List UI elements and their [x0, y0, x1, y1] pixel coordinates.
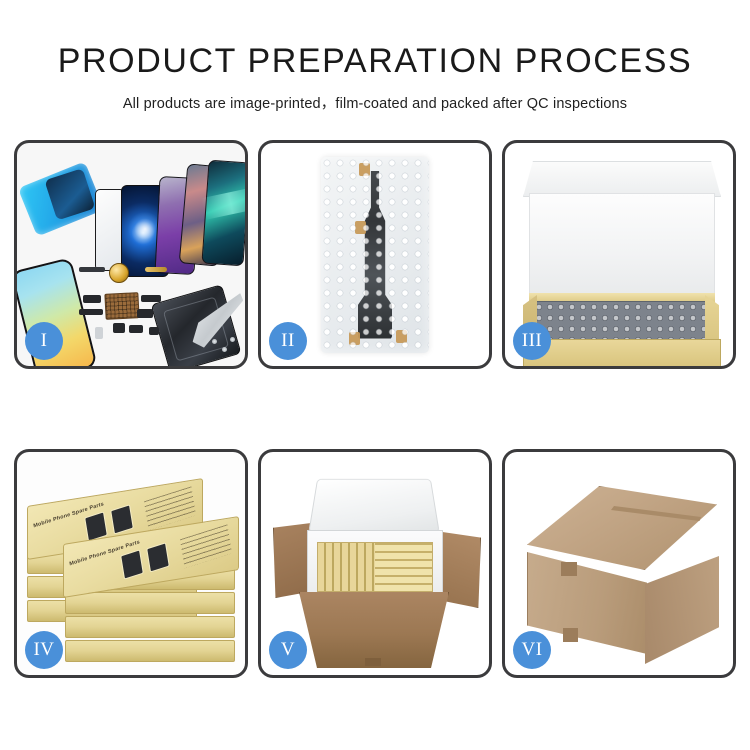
styrofoam-lid-icon — [308, 479, 440, 533]
page-subtitle: All products are image-printed，film-coat… — [0, 92, 750, 113]
small-part-icon — [137, 309, 153, 318]
box-lid-icon — [523, 161, 721, 197]
bubble-texture-overlay — [321, 157, 429, 353]
phone-back-housing-icon — [151, 284, 242, 369]
yellow-retail-boxes-icon — [317, 542, 433, 592]
box-window-icon — [110, 504, 134, 534]
small-part-icon — [113, 323, 125, 333]
panel-step-3[interactable]: III — [502, 140, 736, 369]
box-front-panel-icon — [523, 339, 721, 367]
chip-board-icon — [104, 292, 139, 320]
product-preparation-infographic: PRODUCT PREPARATION PROCESS All products… — [0, 0, 750, 750]
header: PRODUCT PREPARATION PROCESS All products… — [0, 0, 750, 113]
box-window-icon — [146, 542, 170, 572]
small-part-icon — [79, 309, 103, 315]
panel-step-1[interactable]: I — [14, 140, 248, 369]
process-step-grid: I II — [14, 140, 736, 678]
bubble-wrap-bag-icon — [321, 157, 429, 353]
screw-icon — [230, 337, 235, 342]
carton-tab-icon — [365, 658, 381, 666]
box-window-icon — [120, 549, 144, 579]
adhesive-film-icon — [18, 161, 104, 236]
panel-step-5[interactable]: V — [258, 449, 492, 678]
panel-step-6[interactable]: VI — [502, 449, 736, 678]
small-part-icon — [141, 295, 161, 302]
step-badge-1: I — [25, 322, 63, 360]
step-badge-6: VI — [513, 631, 551, 669]
phone-screen-teal-icon — [201, 160, 248, 267]
box-spec-lines — [180, 524, 232, 568]
step-badge-5: V — [269, 631, 307, 669]
gold-contact-icon — [109, 263, 129, 283]
small-part-icon — [83, 295, 101, 303]
step-badge-2: II — [269, 322, 307, 360]
retail-box-edge — [65, 640, 235, 662]
carton-side-face-icon — [645, 556, 719, 664]
panel-step-2[interactable]: II — [258, 140, 492, 369]
retail-box-edge — [65, 616, 235, 638]
screw-icon — [222, 347, 227, 352]
carton-tab-icon — [561, 562, 577, 576]
retail-box-edge — [65, 592, 235, 614]
small-part-icon — [129, 325, 143, 333]
carton-tab-icon — [563, 628, 578, 642]
panel-step-4[interactable]: Mobile Phone Spare Parts Mobile Phone Sp… — [14, 449, 248, 678]
flex-cable-icon — [79, 267, 105, 272]
gold-connector-icon — [145, 267, 167, 272]
carton-top-face-icon — [527, 486, 717, 570]
small-part-icon — [149, 327, 159, 335]
carton-body-icon — [299, 592, 449, 668]
foam-liner-icon — [529, 193, 715, 303]
bubble-wrapped-stack-icon — [533, 301, 709, 343]
step-badge-3: III — [513, 322, 551, 360]
step-badge-4: IV — [25, 631, 63, 669]
sim-tray-icon — [95, 327, 103, 339]
page-title: PRODUCT PREPARATION PROCESS — [0, 44, 750, 80]
screw-icon — [212, 339, 217, 344]
